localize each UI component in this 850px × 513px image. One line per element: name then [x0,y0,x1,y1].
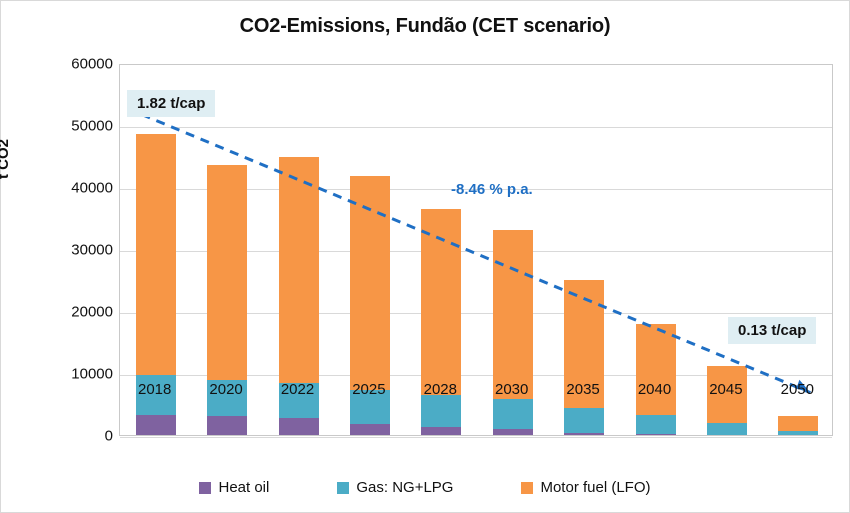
bar-series-container [120,65,832,435]
legend-swatch-icon [337,482,349,494]
chart-legend: Heat oilGas: NG+LPGMotor fuel (LFO) [1,479,849,496]
legend-label: Heat oil [218,479,269,496]
legend-label: Motor fuel (LFO) [540,479,650,496]
bar-segment[interactable] [136,415,176,435]
bar-group[interactable] [421,209,461,435]
bar-segment[interactable] [778,431,818,435]
y-axis-tick: 40000 [3,180,113,197]
bar-segment[interactable] [207,165,247,380]
legend-label: Gas: NG+LPG [356,479,453,496]
legend-swatch-icon [521,482,533,494]
bar-segment[interactable] [421,427,461,435]
x-axis-tick: 2050 [781,381,814,398]
legend-item[interactable]: Heat oil [199,479,269,496]
x-axis-tick: 2045 [709,381,742,398]
bar-segment[interactable] [636,434,676,435]
legend-item[interactable]: Gas: NG+LPG [337,479,453,496]
bar-segment[interactable] [707,423,747,435]
x-axis-tick: 2035 [566,381,599,398]
bar-group[interactable] [707,366,747,435]
x-axis-tick: 2020 [209,381,242,398]
x-axis-tick: 2028 [424,381,457,398]
x-axis-tick: 2018 [138,381,171,398]
bar-group[interactable] [636,324,676,435]
x-axis-tick: 2022 [281,381,314,398]
bar-segment[interactable] [636,415,676,434]
bar-segment[interactable] [421,209,461,395]
bar-group[interactable] [564,280,604,435]
bar-segment[interactable] [136,134,176,375]
x-axis-tick: 2040 [638,381,671,398]
legend-item[interactable]: Motor fuel (LFO) [521,479,650,496]
bar-segment[interactable] [279,157,319,383]
bar-segment[interactable] [350,176,390,389]
annual-rate-label: -8.46 % p.a. [451,181,533,198]
bar-segment[interactable] [564,408,604,432]
bar-segment[interactable] [778,416,818,430]
y-axis-tick: 10000 [3,366,113,383]
legend-swatch-icon [199,482,211,494]
chart-frame: CO2-Emissions, Fundão (CET scenario) t C… [0,0,850,513]
y-axis-tick: 30000 [3,242,113,259]
bar-segment[interactable] [564,433,604,435]
bar-segment[interactable] [421,395,461,427]
bar-segment[interactable] [493,399,533,429]
bar-segment[interactable] [279,418,319,435]
bar-segment[interactable] [350,424,390,435]
y-axis-tick: 50000 [3,118,113,135]
y-axis-ticks: 6000050000400003000020000100000 [1,64,113,436]
end-per-capita-callout: 0.13 t/cap [728,317,816,344]
bar-segment[interactable] [493,230,533,399]
y-axis-tick: 0 [3,428,113,445]
gridline [120,437,832,438]
bar-segment[interactable] [493,429,533,435]
bar-group[interactable] [493,230,533,435]
x-axis-tick: 2030 [495,381,528,398]
bar-group[interactable] [778,416,818,435]
y-axis-tick: 60000 [3,56,113,73]
y-axis-tick: 20000 [3,304,113,321]
bar-segment[interactable] [207,416,247,435]
chart-title: CO2-Emissions, Fundão (CET scenario) [1,15,849,38]
x-axis-tick: 2025 [352,381,385,398]
start-per-capita-callout: 1.82 t/cap [127,90,215,117]
bar-segment[interactable] [636,324,676,415]
